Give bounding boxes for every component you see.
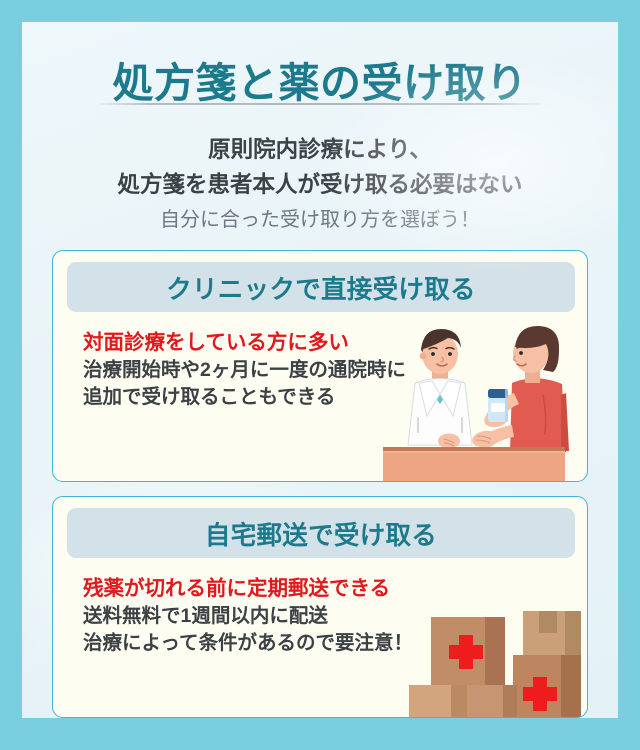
card-delivery-heading-text: 自宅郵送で受け取る: [205, 515, 437, 552]
card-delivery-highlight: 残薬が切れる前に定期郵送できる: [83, 575, 443, 603]
infographic-frame: 処方箋と薬の受け取り 原則院内診療により、 処方箋を患者本人が受け取る必要はない…: [0, 0, 640, 750]
page-title: 処方箋と薬の受け取り: [22, 49, 618, 109]
subtitle-line-3: 自分に合った受け取り方を選ぼう！: [22, 203, 618, 232]
card-delivery-body: 残薬が切れる前に定期郵送できる 送料無料で1週間以内に配送 治療によって条件があ…: [83, 575, 443, 657]
card-home-delivery: 自宅郵送で受け取る 残薬が切れる前に定期郵送できる 送料無料で1週間以内に配送 …: [52, 496, 588, 718]
subtitle-line-1: 原則院内診療により、: [22, 132, 618, 164]
card-clinic-highlight: 対面診療をしている方に多い: [83, 329, 443, 357]
card-clinic-pickup: クリニックで直接受け取る 対面診療をしている方に多い 治療開始時や2ヶ月に一度の…: [52, 250, 588, 482]
subtitle-line-2: 処方箋を患者本人が受け取る必要はない: [22, 167, 618, 199]
card-delivery-line-2: 治療によって条件があるので要注意！: [83, 630, 443, 657]
card-clinic-header: クリニックで直接受け取る: [67, 262, 575, 312]
card-clinic-line-2: 追加で受け取ることもできる: [83, 384, 443, 411]
card-delivery-line-1: 送料無料で1週間以内に配送: [83, 603, 443, 630]
card-clinic-body: 対面診療をしている方に多い 治療開始時や2ヶ月に一度の通院時に 追加で受け取るこ…: [83, 329, 443, 411]
card-delivery-header: 自宅郵送で受け取る: [67, 508, 575, 558]
card-clinic-heading-text: クリニックで直接受け取る: [166, 269, 476, 306]
title-underline-divider: [100, 103, 540, 105]
card-clinic-line-1: 治療開始時や2ヶ月に一度の通院時に: [83, 357, 443, 384]
content-panel: 処方箋と薬の受け取り 原則院内診療により、 処方箋を患者本人が受け取る必要はない…: [22, 22, 618, 718]
